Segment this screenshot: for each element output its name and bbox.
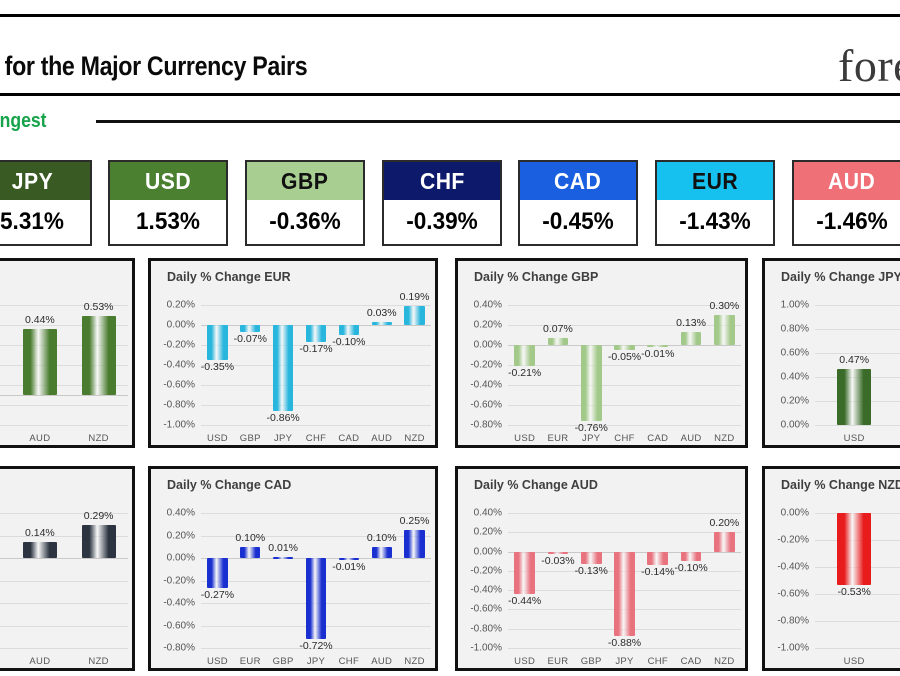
strength-card-jpy[interactable]: JPY5.31% xyxy=(0,160,92,246)
forex-dashboard: e for the Major Currency Pairs fore rong… xyxy=(0,0,900,676)
y-axis-tick: -0.60% xyxy=(765,589,809,600)
strength-card-aud[interactable]: AUD-1.46% xyxy=(792,160,900,246)
x-axis-tick: CAD xyxy=(681,656,702,667)
chart-title: Daily % Change GBP xyxy=(474,270,598,284)
bar-value-label: 0.19% xyxy=(400,291,430,303)
y-axis-tick: 0.00% xyxy=(458,340,502,351)
bar-usd[interactable] xyxy=(514,552,535,594)
bar-cad[interactable] xyxy=(339,325,359,335)
x-axis-tick: JPY xyxy=(307,656,325,667)
strength-card-header: GBP xyxy=(247,162,363,200)
bar-value-label: -0.86% xyxy=(267,412,300,424)
bar-gbp[interactable] xyxy=(240,325,260,332)
y-axis-tick: 0.60% xyxy=(765,348,809,359)
bar-chf[interactable] xyxy=(339,558,359,560)
bar-value-label: 0.03% xyxy=(367,307,397,319)
y-axis-tick: 0.80% xyxy=(765,324,809,335)
x-axis-tick: USD xyxy=(514,656,535,667)
bar-eur[interactable] xyxy=(548,338,569,345)
chart-plot-area: 0.00%-0.20%-0.40%-0.60%-0.80%-1.00%-0.53… xyxy=(765,497,900,668)
x-axis-tick: EUR xyxy=(547,656,568,667)
bar-value-label: -0.01% xyxy=(641,348,674,360)
bar-value-label: -0.07% xyxy=(234,333,267,345)
strength-card-cad[interactable]: CAD-0.45% xyxy=(518,160,638,246)
currency-code: CHF xyxy=(420,168,465,195)
x-axis-tick: EUR xyxy=(547,433,568,444)
bar-aud[interactable] xyxy=(681,332,702,345)
y-axis-tick: -0.20% xyxy=(151,340,195,351)
gridline xyxy=(815,621,900,622)
gridline xyxy=(508,513,741,514)
x-axis-tick: GBP xyxy=(581,656,602,667)
y-axis-tick: -0.60% xyxy=(458,604,502,615)
gridline xyxy=(508,305,741,306)
y-axis-tick: -0.40% xyxy=(151,360,195,371)
y-axis-tick: -0.40% xyxy=(765,562,809,573)
chart-plot-area: -0.66%JPY0.01%CAD0.14%AUD0.29%NZD xyxy=(0,497,132,668)
x-axis-tick: NZD xyxy=(404,433,424,444)
gridline xyxy=(201,365,431,366)
bar-value-label: 0.10% xyxy=(367,532,397,544)
strength-card-header: EUR xyxy=(657,162,773,200)
chart-title: Daily % Change NZD xyxy=(781,478,900,492)
x-axis-tick: USD xyxy=(207,656,228,667)
bar-jpy[interactable] xyxy=(581,345,602,421)
y-axis-tick: -0.20% xyxy=(458,565,502,576)
gridline xyxy=(815,305,900,306)
bar-value-label: -0.53% xyxy=(838,586,871,598)
bar-value-label: 0.10% xyxy=(235,532,265,544)
x-axis-tick: JPY xyxy=(582,433,600,444)
bar-nzd[interactable] xyxy=(82,525,116,558)
chart-plot-area: 0.40%0.20%0.00%-0.20%-0.40%-0.60%-0.80%-… xyxy=(458,497,745,668)
y-axis-tick: -0.60% xyxy=(151,620,195,631)
currency-code: CAD xyxy=(554,168,601,195)
y-axis-tick: 0.40% xyxy=(458,508,502,519)
gridline xyxy=(508,532,741,533)
bar-gbp[interactable] xyxy=(581,552,602,565)
currency-strength-row: JPY5.31%USD1.53%GBP-0.36%CHF-0.39%CAD-0.… xyxy=(0,160,900,246)
currency-code: JPY xyxy=(11,168,52,195)
strength-card-header: JPY xyxy=(0,162,90,200)
bar-value-label: 0.13% xyxy=(676,317,706,329)
bar-chf[interactable] xyxy=(306,325,326,342)
currency-change-value: 5.31% xyxy=(0,200,87,244)
bar-usd[interactable] xyxy=(514,345,535,366)
y-axis-tick: -0.80% xyxy=(151,400,195,411)
chart-panel-cad[interactable]: Daily % Change CAD0.40%0.20%0.00%-0.20%-… xyxy=(148,466,438,671)
bar-value-label: 0.07% xyxy=(543,323,573,335)
bar-nzd[interactable] xyxy=(82,316,116,396)
y-axis-tick: -0.60% xyxy=(458,400,502,411)
chart-plot-area: 0.40%0.20%0.00%-0.20%-0.40%-0.60%-0.80%-… xyxy=(151,497,435,668)
x-axis-tick: CHF xyxy=(339,656,359,667)
y-axis-tick: -1.00% xyxy=(151,420,195,431)
x-axis-tick: JPY xyxy=(274,433,292,444)
chart-title: Daily % Change JPY xyxy=(781,270,900,284)
chart-title: Daily % Change CAD xyxy=(167,478,291,492)
x-axis-tick: USD xyxy=(514,433,535,444)
bar-aud[interactable] xyxy=(23,542,57,558)
bar-usd[interactable] xyxy=(837,369,871,425)
bar-jpy[interactable] xyxy=(614,552,635,637)
bar-jpy[interactable] xyxy=(273,325,293,411)
x-axis-tick: GBP xyxy=(273,656,294,667)
y-axis-tick: 0.20% xyxy=(458,527,502,538)
x-axis-tick: CHF xyxy=(614,433,634,444)
strength-card-gbp[interactable]: GBP-0.36% xyxy=(245,160,365,246)
y-axis-tick: 0.40% xyxy=(458,300,502,311)
bar-chf[interactable] xyxy=(614,345,635,350)
x-axis-tick: NZD xyxy=(714,656,734,667)
x-axis-tick: AUD xyxy=(29,656,50,667)
gridline xyxy=(0,425,128,426)
bar-value-label: 0.01% xyxy=(268,542,298,554)
zero-baseline xyxy=(0,395,128,396)
strength-card-chf[interactable]: CHF-0.39% xyxy=(382,160,502,246)
y-axis-tick: -0.20% xyxy=(458,360,502,371)
gridline xyxy=(508,405,741,406)
bar-jpy[interactable] xyxy=(306,558,326,639)
header-band: e for the Major Currency Pairs fore xyxy=(0,14,900,96)
bar-value-label: 0.53% xyxy=(84,301,114,313)
bar-value-label: 0.47% xyxy=(839,354,869,366)
bar-value-label: -0.27% xyxy=(201,589,234,601)
y-axis-tick: -0.80% xyxy=(458,420,502,431)
gridline xyxy=(0,603,128,604)
chart-panel-aud[interactable]: Daily % Change AUD0.40%0.20%0.00%-0.20%-… xyxy=(455,466,748,671)
currency-change-value: 1.53% xyxy=(113,200,222,244)
y-axis-tick: -0.20% xyxy=(765,535,809,546)
chart-panel-jpy[interactable]: Daily % Change JPY1.00%0.80%0.60%0.40%0.… xyxy=(762,258,900,448)
y-axis-tick: -0.80% xyxy=(151,643,195,654)
gridline xyxy=(0,648,128,649)
x-axis-tick: NZD xyxy=(88,433,108,444)
x-axis-tick: NZD xyxy=(404,656,424,667)
bar-value-label: -0.72% xyxy=(299,640,332,652)
brand-logo: fore xyxy=(838,39,900,92)
x-axis-tick: CAD xyxy=(647,433,668,444)
chart-panel-chf[interactable]: Daily % Change CHF-0.66%JPY0.01%CAD0.14%… xyxy=(0,466,135,671)
x-axis-tick: USD xyxy=(844,433,865,444)
gridline xyxy=(815,425,900,426)
chart-title: Daily % Change AUD xyxy=(474,478,598,492)
bar-value-label: -0.01% xyxy=(332,561,365,573)
gridline xyxy=(201,385,431,386)
y-axis-tick: 0.00% xyxy=(765,420,809,431)
gridline xyxy=(0,581,128,582)
bar-aud[interactable] xyxy=(372,547,392,558)
x-axis-tick: AUD xyxy=(371,656,392,667)
bar-value-label: -0.44% xyxy=(508,595,541,607)
bar-chf[interactable] xyxy=(647,552,668,566)
strength-card-header: CAD xyxy=(520,162,636,200)
bar-value-label: -0.10% xyxy=(674,562,707,574)
gridline xyxy=(815,329,900,330)
y-axis-tick: -0.80% xyxy=(458,623,502,634)
y-axis-tick: -0.40% xyxy=(458,585,502,596)
bar-value-label: 0.29% xyxy=(84,510,114,522)
bar-usd[interactable] xyxy=(207,325,227,360)
y-axis-tick: -0.40% xyxy=(151,598,195,609)
x-axis-tick: USD xyxy=(844,656,865,667)
currency-code: EUR xyxy=(692,168,738,195)
bar-aud[interactable] xyxy=(372,322,392,325)
gridline xyxy=(508,385,741,386)
x-axis-tick: EUR xyxy=(240,656,261,667)
strength-ranking-label: rongest xyxy=(0,110,47,133)
bar-value-label: -0.03% xyxy=(541,555,574,567)
y-axis-tick: -1.00% xyxy=(765,643,809,654)
x-axis-tick: CHF xyxy=(648,656,668,667)
bar-value-label: -0.14% xyxy=(641,566,674,578)
bar-value-label: 0.20% xyxy=(709,517,739,529)
gridline xyxy=(201,405,431,406)
chart-plot-area: 0.24%CHF0.27%CAD0.44%AUD0.53%NZD xyxy=(0,289,132,445)
y-axis-tick: 0.20% xyxy=(765,396,809,407)
y-axis-tick: 0.20% xyxy=(458,320,502,331)
y-axis-tick: 0.40% xyxy=(151,508,195,519)
gridline xyxy=(508,365,741,366)
bar-value-label: -0.88% xyxy=(608,637,641,649)
y-axis-tick: 1.00% xyxy=(765,300,809,311)
bar-nzd[interactable] xyxy=(714,532,735,551)
x-axis-tick: CAD xyxy=(338,433,359,444)
y-axis-tick: 0.40% xyxy=(765,372,809,383)
x-axis-tick: CHF xyxy=(306,433,326,444)
bar-nzd[interactable] xyxy=(714,315,735,345)
currency-code: USD xyxy=(145,168,191,195)
bar-eur[interactable] xyxy=(548,552,569,555)
currency-code: AUD xyxy=(828,168,875,195)
bar-value-label: -0.21% xyxy=(508,367,541,379)
y-axis-tick: -1.00% xyxy=(458,643,502,654)
bar-eur[interactable] xyxy=(240,547,260,558)
gridline xyxy=(0,626,128,627)
x-axis-tick: AUD xyxy=(29,433,50,444)
currency-change-value: -0.39% xyxy=(387,200,496,244)
gridline xyxy=(508,425,741,426)
strength-card-header: USD xyxy=(110,162,226,200)
bar-cad[interactable] xyxy=(647,345,668,347)
chart-plot-area: 0.20%0.00%-0.20%-0.40%-0.60%-0.80%-1.00%… xyxy=(151,289,435,445)
currency-change-value: -0.45% xyxy=(523,200,632,244)
bar-value-label: 0.30% xyxy=(709,300,739,312)
bar-usd[interactable] xyxy=(207,558,227,588)
gridline xyxy=(201,425,431,426)
y-axis-tick: -0.20% xyxy=(151,575,195,586)
y-axis-tick: 0.00% xyxy=(458,546,502,557)
currency-code: GBP xyxy=(281,168,328,195)
y-axis-tick: -0.40% xyxy=(458,380,502,391)
y-axis-tick: 0.00% xyxy=(765,508,809,519)
chart-panel-gbp[interactable]: Daily % Change GBP0.40%0.20%0.00%-0.20%-… xyxy=(455,258,748,448)
gridline xyxy=(201,513,431,514)
strength-card-header: CHF xyxy=(384,162,500,200)
bar-value-label: -0.10% xyxy=(332,336,365,348)
x-axis-tick: NZD xyxy=(714,433,734,444)
bar-nzd[interactable] xyxy=(404,530,424,558)
chart-title: Daily % Change EUR xyxy=(167,270,291,284)
zero-baseline xyxy=(0,558,128,559)
bar-gbp[interactable] xyxy=(273,557,293,559)
currency-change-value: -1.46% xyxy=(797,200,900,244)
currency-change-value: -0.36% xyxy=(250,200,359,244)
bar-value-label: -0.35% xyxy=(201,361,234,373)
chart-plot-area: 1.00%0.80%0.60%0.40%0.20%0.00%0.47%USD0.… xyxy=(765,289,900,445)
page-title: e for the Major Currency Pairs xyxy=(0,51,307,82)
gridline xyxy=(0,405,128,406)
bar-aud[interactable] xyxy=(23,329,57,395)
chart-panel-eur[interactable]: Daily % Change EUR0.20%0.00%-0.20%-0.40%… xyxy=(148,258,438,448)
gridline xyxy=(201,305,431,306)
strength-card-header: AUD xyxy=(794,162,900,200)
currency-change-value: -1.43% xyxy=(660,200,769,244)
chart-panel-usd[interactable]: Daily % Change USD0.24%CHF0.27%CAD0.44%A… xyxy=(0,258,135,448)
bar-value-label: 0.44% xyxy=(25,314,55,326)
x-axis-tick: USD xyxy=(207,433,228,444)
x-axis-tick: NZD xyxy=(88,656,108,667)
bar-value-label: -0.13% xyxy=(575,565,608,577)
gridline xyxy=(815,648,900,649)
strength-card-eur[interactable]: EUR-1.43% xyxy=(655,160,775,246)
bar-cad[interactable] xyxy=(681,552,702,562)
bar-value-label: 0.14% xyxy=(25,527,55,539)
bar-value-label: -0.17% xyxy=(299,343,332,355)
y-axis-tick: -0.60% xyxy=(151,380,195,391)
y-axis-tick: 0.00% xyxy=(151,320,195,331)
y-axis-tick: -0.80% xyxy=(765,616,809,627)
x-axis-tick: AUD xyxy=(681,433,702,444)
y-axis-tick: 0.20% xyxy=(151,300,195,311)
chart-plot-area: 0.40%0.20%0.00%-0.20%-0.40%-0.60%-0.80%-… xyxy=(458,289,745,445)
subhead-divider xyxy=(96,120,900,123)
strength-card-usd[interactable]: USD1.53% xyxy=(108,160,228,246)
bar-value-label: 0.25% xyxy=(400,515,430,527)
bar-usd[interactable] xyxy=(837,513,871,585)
bar-value-label: -0.05% xyxy=(608,351,641,363)
bar-nzd[interactable] xyxy=(404,306,424,325)
chart-panel-nzd[interactable]: Daily % Change NZD0.00%-0.20%-0.40%-0.60… xyxy=(762,466,900,671)
x-axis-tick: JPY xyxy=(615,656,633,667)
x-axis-tick: AUD xyxy=(371,433,392,444)
y-axis-tick: 0.20% xyxy=(151,530,195,541)
y-axis-tick: 0.00% xyxy=(151,553,195,564)
x-axis-tick: GBP xyxy=(240,433,261,444)
